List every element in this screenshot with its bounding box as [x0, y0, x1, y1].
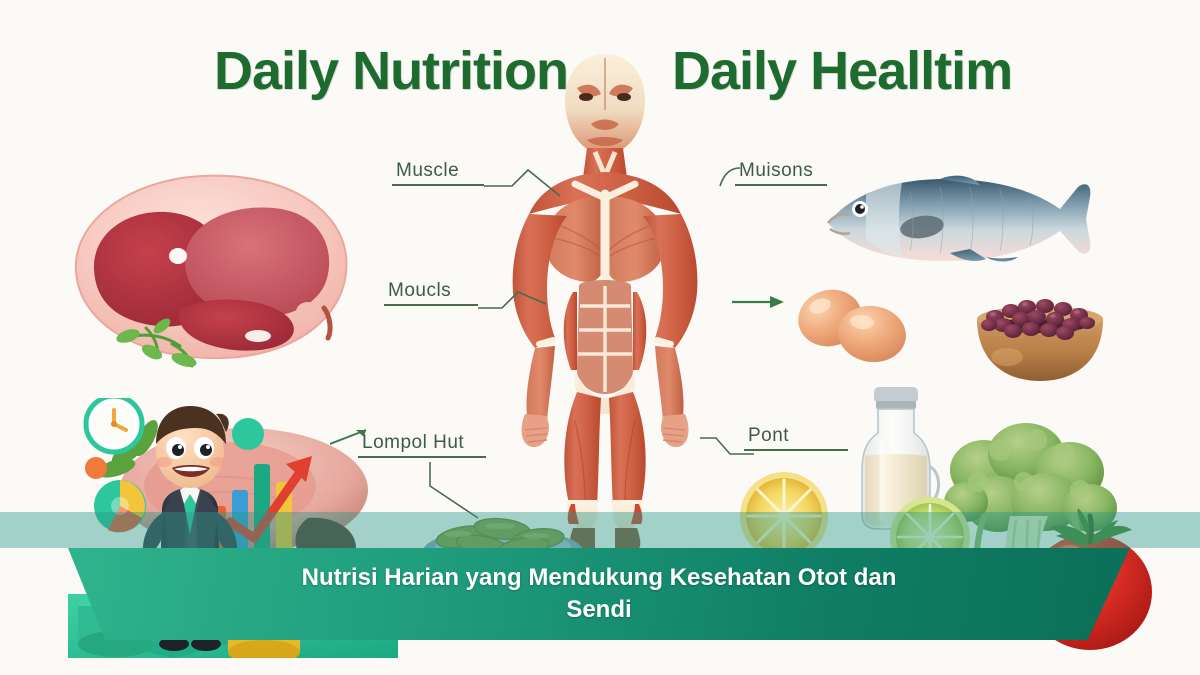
callout-muisons: Muisons — [735, 160, 827, 186]
callout-muisons-label: Muisons — [735, 160, 827, 184]
muscular-body-anatomy — [455, 48, 755, 548]
callout-rule — [384, 304, 478, 306]
overlay-band — [0, 512, 1200, 548]
banner-title: Nutrisi Harian yang Mendukung Kesehatan … — [279, 562, 919, 625]
callout-rule — [392, 184, 484, 186]
callout-rule — [735, 184, 827, 186]
callout-pont: Pont — [744, 425, 848, 451]
callout-muscle: Muscle — [392, 160, 484, 186]
callout-muscle-label: Muscle — [392, 160, 484, 184]
bowl-of-beans-illustration — [965, 275, 1115, 385]
raw-meat-illustration — [62, 160, 362, 390]
callout-rule — [744, 449, 848, 451]
fish-illustration — [820, 165, 1120, 275]
callout-pont-label: Pont — [744, 425, 848, 449]
eggs-illustration — [788, 280, 918, 370]
banner: Nutrisi Harian yang Mendukung Kesehatan … — [68, 548, 1130, 640]
infographic-canvas: Daily Nutrition Daily Healltim — [0, 0, 1200, 675]
callout-moucls: Moucls — [384, 280, 478, 306]
callout-moucls-label: Moucls — [384, 280, 478, 304]
